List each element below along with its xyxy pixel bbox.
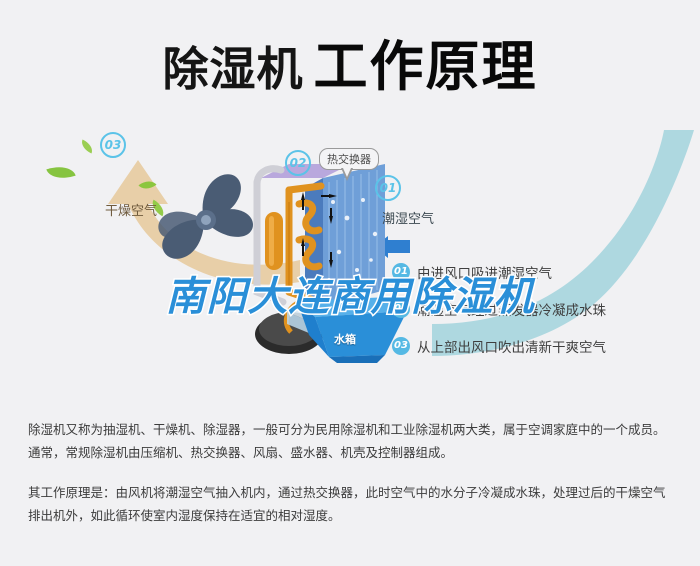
page-title: 除湿机工作原理 [0, 22, 700, 101]
watermark-text: 南阳大连商用除湿机 [0, 264, 700, 322]
page-title-part1: 除湿机 [163, 42, 304, 96]
paragraph-line: 排出机外，如此循环使室内湿度保持在适宜的相对湿度。 [28, 504, 680, 527]
step-number: 03 [392, 337, 410, 355]
paragraph-line: 除湿机又称为抽湿机、干燥机、除湿器，一般可分为民用除湿机和工业除湿机两大类，属于… [28, 418, 680, 441]
infographic-page: 除湿机工作原理 [0, 0, 700, 566]
dry-air-label: 干燥空气 [105, 200, 157, 219]
diagram-badge-02: 02 [285, 150, 311, 176]
page-title-part2: 工作原理 [314, 35, 538, 98]
paragraph-line: 通常，常规除湿机由压缩机、热交换器、风扇、盛水器、机壳及控制器组成。 [28, 441, 680, 464]
paragraph-line: 其工作原理是：由风机将潮湿空气抽入机内，通过热交换器，此时空气中的水分子冷凝成水… [28, 481, 680, 504]
humid-air-label: 潮湿空气 [382, 208, 434, 227]
heat-exchanger-callout-group: 02 热交换器 [233, 128, 373, 188]
water-tank-label: 水箱 [295, 331, 395, 347]
step-item: 03 从上部出风口吹出清新干爽空气 [392, 336, 692, 356]
paragraph: 其工作原理是：由风机将潮湿空气抽入机内，通过热交换器，此时空气中的水分子冷凝成水… [28, 481, 680, 527]
description-text: 除湿机又称为抽湿机、干燥机、除湿器，一般可分为民用除湿机和工业除湿机两大类，属于… [28, 418, 680, 544]
heat-exchanger-callout: 热交换器 [319, 148, 379, 170]
diagram-badge-03: 03 [100, 132, 126, 158]
paragraph: 除湿机又称为抽湿机、干燥机、除湿器，一般可分为民用除湿机和工业除湿机两大类，属于… [28, 418, 680, 464]
callout-pointer-icon [341, 168, 353, 181]
diagram-badge-01: 01 [375, 175, 401, 201]
step-text: 从上部出风口吹出清新干爽空气 [417, 336, 606, 356]
